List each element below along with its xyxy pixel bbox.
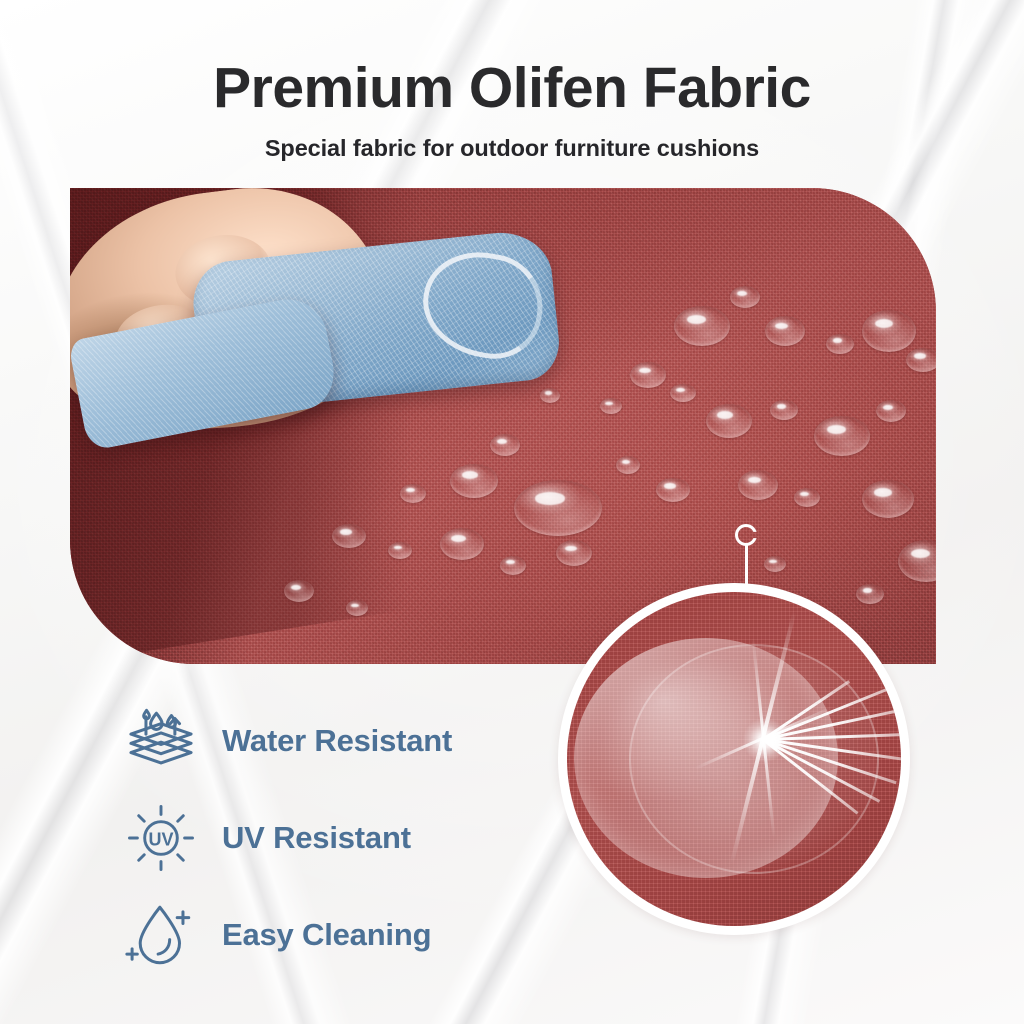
water-droplet bbox=[706, 404, 752, 438]
water-droplet bbox=[876, 400, 906, 422]
feature-list: Water Resistant UV UV Resistant bbox=[122, 692, 452, 983]
magnifier-callout bbox=[558, 583, 910, 935]
water-droplet bbox=[440, 528, 484, 560]
water-droplet bbox=[862, 480, 914, 518]
water-droplet bbox=[738, 470, 778, 500]
water-droplet bbox=[674, 306, 730, 346]
feature-label-easy-cleaning: Easy Cleaning bbox=[222, 917, 431, 953]
water-droplet bbox=[616, 456, 640, 474]
feature-label-water-resistant: Water Resistant bbox=[222, 723, 452, 759]
svg-text:UV: UV bbox=[148, 829, 173, 849]
water-droplet bbox=[450, 464, 498, 498]
water-droplet bbox=[490, 434, 520, 456]
water-droplet bbox=[794, 488, 820, 507]
water-droplet bbox=[346, 600, 368, 616]
water-droplet bbox=[765, 316, 805, 346]
water-droplet bbox=[906, 348, 936, 372]
water-droplet bbox=[388, 542, 412, 559]
water-droplet bbox=[670, 384, 696, 402]
flare-core bbox=[743, 718, 787, 762]
water-droplet bbox=[862, 310, 916, 352]
feature-item-easy-cleaning: Easy Cleaning bbox=[122, 886, 452, 983]
water-droplet bbox=[284, 580, 314, 602]
water-droplet bbox=[332, 524, 366, 548]
water-droplet bbox=[826, 334, 854, 354]
cloth-hem bbox=[415, 243, 551, 366]
water-droplet bbox=[898, 540, 936, 582]
header: Premium Olifen Fabric Special fabric for… bbox=[0, 0, 1024, 162]
page-subtitle: Special fabric for outdoor furniture cus… bbox=[0, 135, 1024, 162]
water-droplet bbox=[730, 286, 760, 308]
water-droplet bbox=[514, 480, 602, 536]
magnifier-content bbox=[567, 592, 901, 926]
droplet-sparkle-icon bbox=[122, 896, 200, 974]
water-droplet bbox=[600, 398, 622, 414]
water-droplet bbox=[656, 478, 690, 502]
water-drop-layers-icon bbox=[122, 702, 200, 780]
water-droplet bbox=[556, 540, 592, 566]
water-droplet bbox=[540, 388, 560, 403]
water-droplet bbox=[770, 400, 798, 420]
water-droplet bbox=[814, 416, 870, 456]
water-droplet bbox=[500, 556, 526, 575]
feature-item-water-resistant: Water Resistant bbox=[122, 692, 452, 789]
sun-uv-icon: UV bbox=[122, 799, 200, 877]
feature-label-uv-resistant: UV Resistant bbox=[222, 820, 411, 856]
page-title: Premium Olifen Fabric bbox=[0, 57, 1024, 121]
feature-item-uv-resistant: UV UV Resistant bbox=[122, 789, 452, 886]
water-droplet bbox=[400, 484, 426, 503]
water-droplet bbox=[764, 556, 786, 572]
water-droplet bbox=[630, 362, 666, 388]
